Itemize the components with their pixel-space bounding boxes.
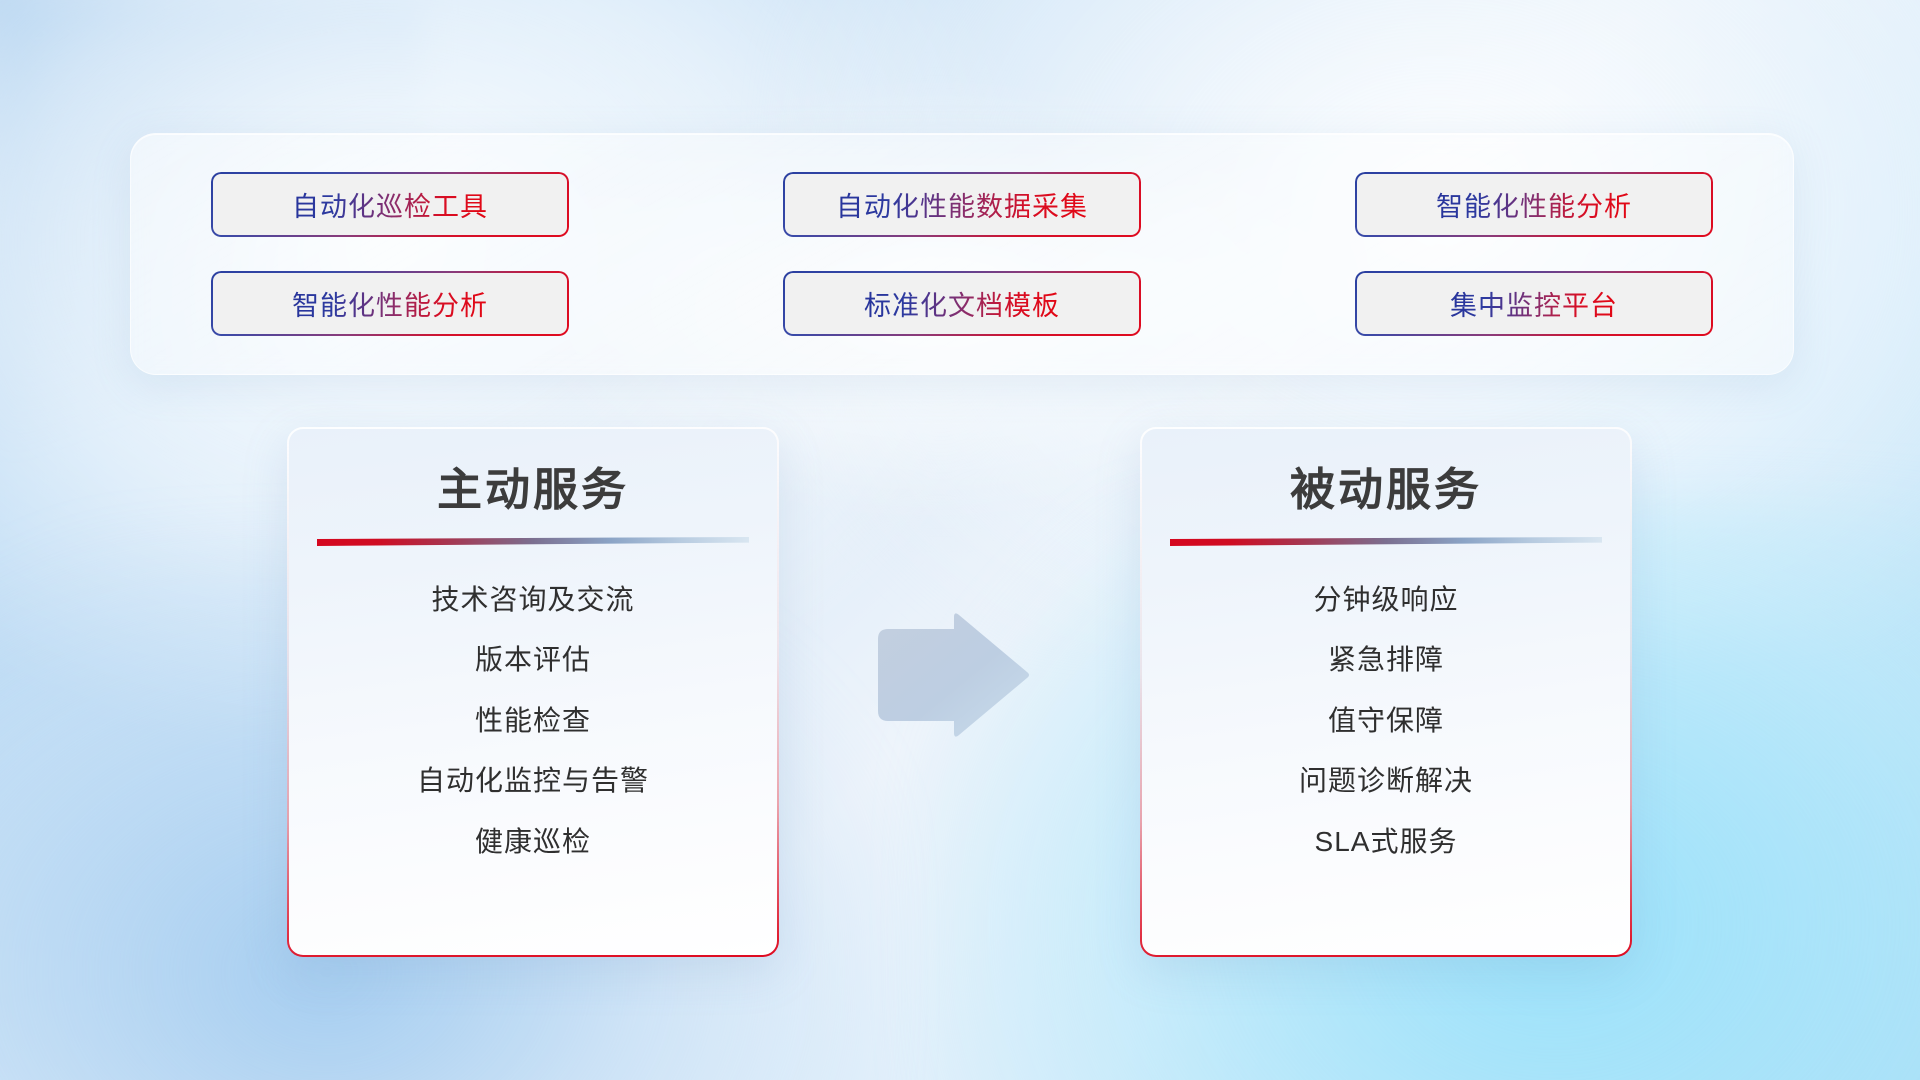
- capability-chip-intelligent-perf-analysis-1[interactable]: 智能化性能分析: [1355, 172, 1713, 237]
- list-item: 紧急排障: [1328, 642, 1444, 678]
- capability-chip-auto-inspection-tool[interactable]: 自动化巡检工具: [211, 172, 569, 237]
- chip-surface: 标准化文档模板: [785, 273, 1139, 334]
- chip-label: 智能化性能分析: [292, 284, 488, 323]
- card-title: 主动服务: [437, 463, 629, 517]
- capability-row-1: 自动化巡检工具 自动化性能数据采集 智能化性能分析: [211, 172, 1713, 237]
- right-arrow-icon: [872, 611, 1032, 739]
- chip-label: 集中监控平台: [1450, 284, 1618, 323]
- chip-label: 自动化巡检工具: [292, 185, 488, 224]
- list-item: 自动化监控与告警: [417, 763, 649, 799]
- chip-label: 智能化性能分析: [1436, 185, 1632, 224]
- list-item: 健康巡检: [475, 824, 591, 860]
- chip-surface: 集中监控平台: [1357, 273, 1711, 334]
- card-surface: 主动服务 技术咨询及交流 版本评估 性能检查 自动化监控与告警 健康巡检: [289, 429, 777, 955]
- list-item: SLA式服务: [1315, 824, 1458, 860]
- list-item: 问题诊断解决: [1299, 763, 1473, 799]
- chip-label: 自动化性能数据采集: [836, 185, 1088, 224]
- capability-chip-intelligent-perf-analysis-2[interactable]: 智能化性能分析: [211, 271, 569, 336]
- chip-surface: 智能化性能分析: [1357, 174, 1711, 235]
- capability-chip-central-monitoring-platform[interactable]: 集中监控平台: [1355, 271, 1713, 336]
- card-title-divider: [317, 537, 749, 546]
- service-card-passive: 被动服务 分钟级响应 紧急排障 值守保障 问题诊断解决 SLA式服务: [1140, 427, 1632, 957]
- card-item-list: 技术咨询及交流 版本评估 性能检查 自动化监控与告警 健康巡检: [289, 582, 777, 860]
- card-surface: 被动服务 分钟级响应 紧急排障 值守保障 问题诊断解决 SLA式服务: [1142, 429, 1630, 955]
- service-card-active: 主动服务 技术咨询及交流 版本评估 性能检查 自动化监控与告警 健康巡检: [287, 427, 779, 957]
- card-item-list: 分钟级响应 紧急排障 值守保障 问题诊断解决 SLA式服务: [1142, 582, 1630, 860]
- card-title: 被动服务: [1290, 463, 1482, 517]
- capability-panel: 自动化巡检工具 自动化性能数据采集 智能化性能分析 智能化性能分析 标准化文档模…: [130, 133, 1794, 375]
- chip-surface: 智能化性能分析: [213, 273, 567, 334]
- list-item: 技术咨询及交流: [431, 582, 634, 618]
- chip-surface: 自动化巡检工具: [213, 174, 567, 235]
- chip-surface: 自动化性能数据采集: [785, 174, 1139, 235]
- list-item: 版本评估: [475, 642, 591, 678]
- list-item: 分钟级响应: [1313, 582, 1458, 618]
- capability-chip-auto-perf-data-collection[interactable]: 自动化性能数据采集: [783, 172, 1141, 237]
- list-item: 性能检查: [475, 703, 591, 739]
- list-item: 值守保障: [1328, 703, 1444, 739]
- capability-row-2: 智能化性能分析 标准化文档模板 集中监控平台: [211, 271, 1713, 336]
- chip-label: 标准化文档模板: [864, 284, 1060, 323]
- capability-chip-standard-doc-template[interactable]: 标准化文档模板: [783, 271, 1141, 336]
- card-title-divider: [1170, 537, 1602, 546]
